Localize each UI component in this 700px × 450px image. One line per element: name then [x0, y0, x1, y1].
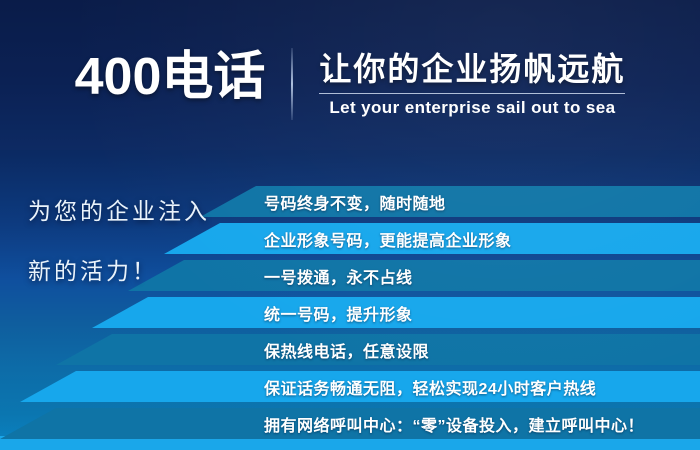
- left-headline-line-1: 为您的企业注入: [28, 196, 210, 226]
- header-divider: [291, 48, 293, 120]
- slogan-chinese: 让你的企业扬帆远航: [319, 50, 625, 88]
- slogan-group: 让你的企业扬帆远航 Let your enterprise sail out t…: [319, 48, 625, 118]
- feature-bar-label: 企业形象号码，更能提高企业形象: [264, 227, 512, 251]
- feature-bar-label: 拥有网络呼叫中心：“零”设备投入，建立呼叫中心！: [264, 412, 644, 436]
- feature-bar: 统一号码，提升形象: [0, 297, 700, 328]
- feature-bar-label: 统一号码，提升形象: [264, 301, 413, 325]
- slogan-rule: [319, 93, 625, 94]
- feature-bar: 拥有网络呼叫中心：“零”设备投入，建立呼叫中心！: [0, 408, 700, 439]
- feature-bar-label: 保热线电话，任意设限: [264, 338, 429, 362]
- left-headline-line-2: 新的活力！: [28, 256, 210, 286]
- slogan-english: Let your enterprise sail out to sea: [329, 98, 615, 118]
- header-content: 400电话 让你的企业扬帆远航 Let your enterprise sail…: [0, 48, 700, 138]
- header-band: 400电话 让你的企业扬帆远航 Let your enterprise sail…: [0, 0, 700, 150]
- feature-bar-label: 一号拨通，永不占线: [264, 264, 413, 288]
- promo-banner: 400电话 让你的企业扬帆远航 Let your enterprise sail…: [0, 0, 700, 450]
- feature-bar: 保证话务畅通无阻，轻松实现24小时客户热线: [0, 371, 700, 402]
- brand-title: 400电话: [75, 48, 266, 106]
- left-headline: 为您的企业注入 新的活力！: [28, 196, 210, 286]
- feature-bar: 保热线电话，任意设限: [0, 334, 700, 365]
- feature-bar-label: 号码终身不变，随时随地: [264, 190, 446, 214]
- feature-bar-label: 保证话务畅通无阻，轻松实现24小时客户热线: [264, 375, 596, 399]
